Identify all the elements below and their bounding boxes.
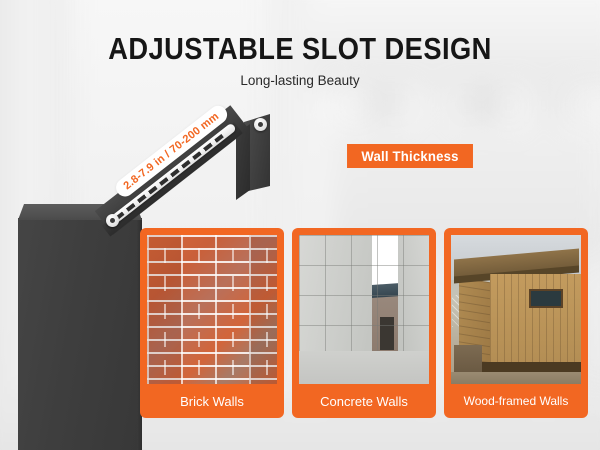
wall-type-panel-group: Brick Walls Concrete Walls [140, 228, 588, 418]
wood-ground [451, 372, 581, 384]
wall-thickness-badge: Wall Thickness [347, 144, 473, 168]
knob-center [258, 122, 263, 127]
slot-adjuster-knob-top [254, 118, 267, 131]
brick-wall-photo [147, 235, 277, 384]
wood-framed-wall-photo [451, 235, 581, 384]
page-title: ADJUSTABLE SLOT DESIGN [36, 31, 564, 67]
knob-center [110, 218, 115, 223]
concrete-ground [299, 351, 429, 384]
wood-scene [451, 235, 581, 384]
slot-adjuster-knob-bottom [106, 214, 119, 227]
wall-type-panel-brick: Brick Walls [140, 228, 284, 418]
promo-image-canvas: ADJUSTABLE SLOT DESIGN Long-lasting Beau… [0, 0, 600, 450]
wood-window [529, 289, 563, 308]
brick-row-offset [164, 235, 277, 384]
page-subtitle: Long-lasting Beauty [0, 73, 600, 88]
panel-label-brick: Brick Walls [147, 384, 277, 418]
panel-label-wood: Wood-framed Walls [451, 384, 581, 418]
concrete-wall-photo [299, 235, 429, 384]
wall-type-panel-concrete: Concrete Walls [292, 228, 436, 418]
wall-type-panel-wood: Wood-framed Walls [444, 228, 588, 418]
panel-label-concrete: Concrete Walls [299, 384, 429, 418]
concrete-scene [299, 235, 429, 384]
wood-steps [454, 345, 483, 372]
